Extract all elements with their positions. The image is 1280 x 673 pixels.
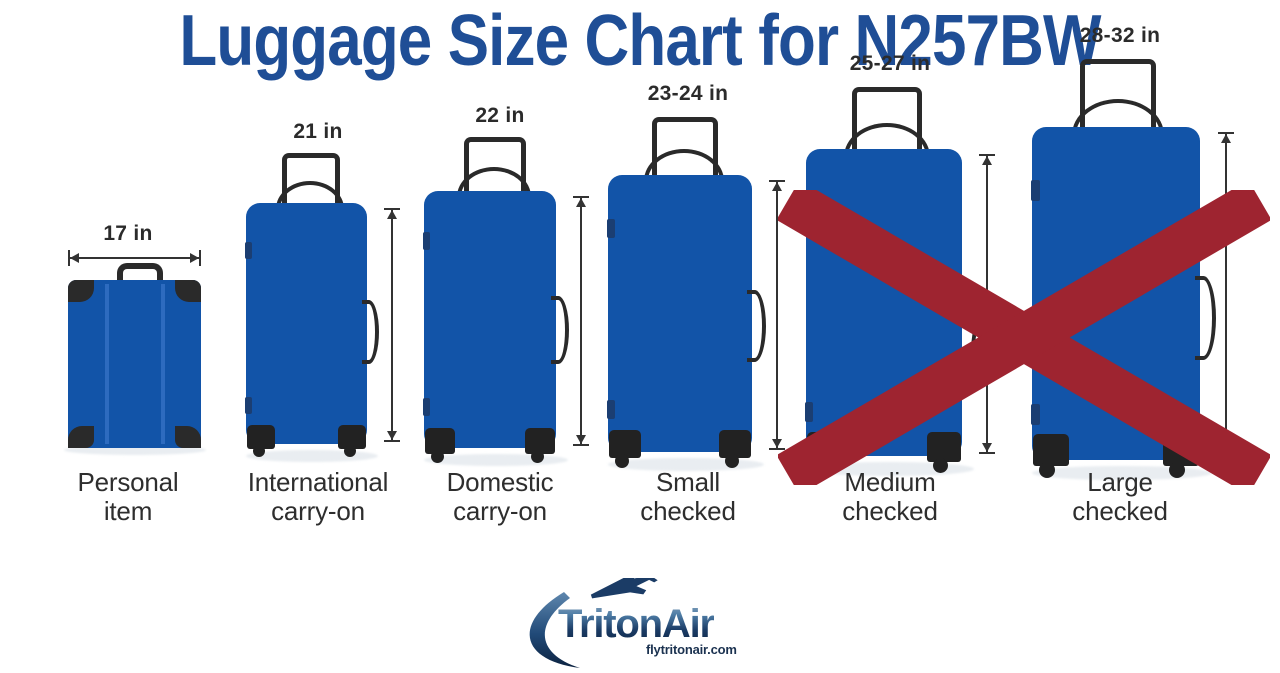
dimension-arrow-up-icon: [982, 156, 992, 165]
dimension-arrow-down-icon: [982, 443, 992, 452]
suitcase-body: [610, 177, 750, 450]
caption-line-1: Large: [1087, 467, 1153, 497]
drop-shadow: [424, 454, 568, 466]
dimension-line-vertical-small-checked: [776, 180, 778, 450]
caption-medium-checked: Medium checked: [770, 468, 1010, 526]
wheel-right: [725, 454, 739, 468]
suitcase-latch-bottom: [423, 398, 430, 416]
briefcase-strap-left: [105, 284, 109, 444]
dimension-line-horizontal-personal-item: [68, 257, 201, 259]
logo-wordmark: TritonAir: [558, 602, 714, 647]
dimension-arrow-right-icon: [190, 253, 199, 263]
dimension-line-vertical-large-checked: [1225, 132, 1227, 458]
dimension-arrow-down-icon: [387, 431, 397, 440]
suitcase-latch-bottom: [245, 397, 252, 414]
dimension-line-vertical-international-carry-on: [391, 208, 393, 442]
dimension-label-international-carry-on: 21 in: [218, 120, 418, 144]
wheel-housing-left: [807, 432, 841, 462]
suitcase-body: [248, 205, 365, 442]
dimension-arrow-up-icon: [1221, 134, 1231, 143]
suitcase-latch-bottom: [607, 400, 615, 419]
dimension-arrow-up-icon: [576, 198, 586, 207]
wheel-housing-left: [1033, 434, 1069, 466]
suitcase-latch-bottom: [805, 402, 813, 422]
wheel-left: [615, 454, 629, 468]
suitcase-latch-top: [1031, 180, 1040, 201]
suitcase-latch-top: [245, 242, 252, 259]
luggage-item-large-checked: 28-32 in: [1020, 120, 1220, 550]
luggage-row: 17 in: [0, 120, 1280, 550]
dimension-arrow-down-icon: [576, 435, 586, 444]
dimension-label-large-checked: 28-32 in: [1020, 24, 1220, 48]
dimension-label-domestic-carry-on: 22 in: [400, 104, 600, 128]
dimension-line-vertical-domestic-carry-on: [580, 196, 582, 446]
logo-url: flytritonair.com: [646, 642, 737, 657]
caption-line-1: Domestic: [447, 467, 554, 497]
side-grab-handle-icon: [362, 300, 379, 364]
briefcase-body: [68, 280, 201, 448]
wheel-left: [431, 450, 444, 463]
side-grab-handle-icon: [747, 290, 766, 362]
wheel-housing-right: [927, 432, 961, 462]
briefcase-corner-bottom-left: [68, 426, 94, 448]
suitcase-latch-bottom: [1031, 404, 1040, 425]
dimension-line-vertical-medium-checked: [986, 154, 988, 454]
suitcase-body: [808, 151, 960, 454]
dimension-label-medium-checked: 25-27 in: [790, 52, 990, 76]
caption-line-1: Medium: [844, 467, 935, 497]
luggage-item-small-checked: 23-24 in: [588, 120, 788, 550]
briefcase-strap-right: [161, 284, 165, 444]
triton-air-logo: TritonAir flytritonair.com: [506, 578, 776, 670]
suitcase-latch-top: [607, 219, 615, 238]
dimension-arrow-up-icon: [387, 210, 397, 219]
dimension-arrow-down-icon: [1221, 447, 1231, 456]
caption-line-1: Small: [656, 467, 720, 497]
dimension-arrow-left-icon: [70, 253, 79, 263]
suitcase-latch-top: [805, 198, 813, 218]
caption-line-2: checked: [1072, 496, 1167, 526]
dimension-label-personal-item: 17 in: [28, 222, 228, 246]
wheel-right: [344, 445, 356, 457]
suitcase-body: [426, 193, 554, 446]
suitcase-body: [1034, 129, 1198, 458]
wheel-left: [253, 445, 265, 457]
wheel-housing-right: [1163, 434, 1199, 466]
suitcase-latch-top: [423, 232, 430, 250]
drop-shadow: [246, 450, 378, 462]
wheel-right: [531, 450, 544, 463]
side-grab-handle-icon: [1195, 276, 1216, 360]
caption-line-2: checked: [640, 496, 735, 526]
dimension-label-small-checked: 23-24 in: [588, 82, 788, 106]
caption-line-1: Personal: [77, 467, 178, 497]
side-grab-handle-icon: [957, 282, 977, 360]
caption-line-2: carry-on: [271, 496, 365, 526]
caption-line-2: checked: [842, 496, 937, 526]
caption-line-2: carry-on: [453, 496, 547, 526]
caption-large-checked: Large checked: [1000, 468, 1240, 526]
caption-line-1: International: [248, 467, 389, 497]
side-grab-handle-icon: [551, 296, 569, 364]
dimension-arrow-down-icon: [772, 439, 782, 448]
dimension-arrow-up-icon: [772, 182, 782, 191]
luggage-item-medium-checked: 25-27 in: [790, 120, 990, 550]
luggage-size-chart: Luggage Size Chart for N257BW 17 in: [0, 0, 1280, 673]
caption-line-2: item: [104, 496, 152, 526]
